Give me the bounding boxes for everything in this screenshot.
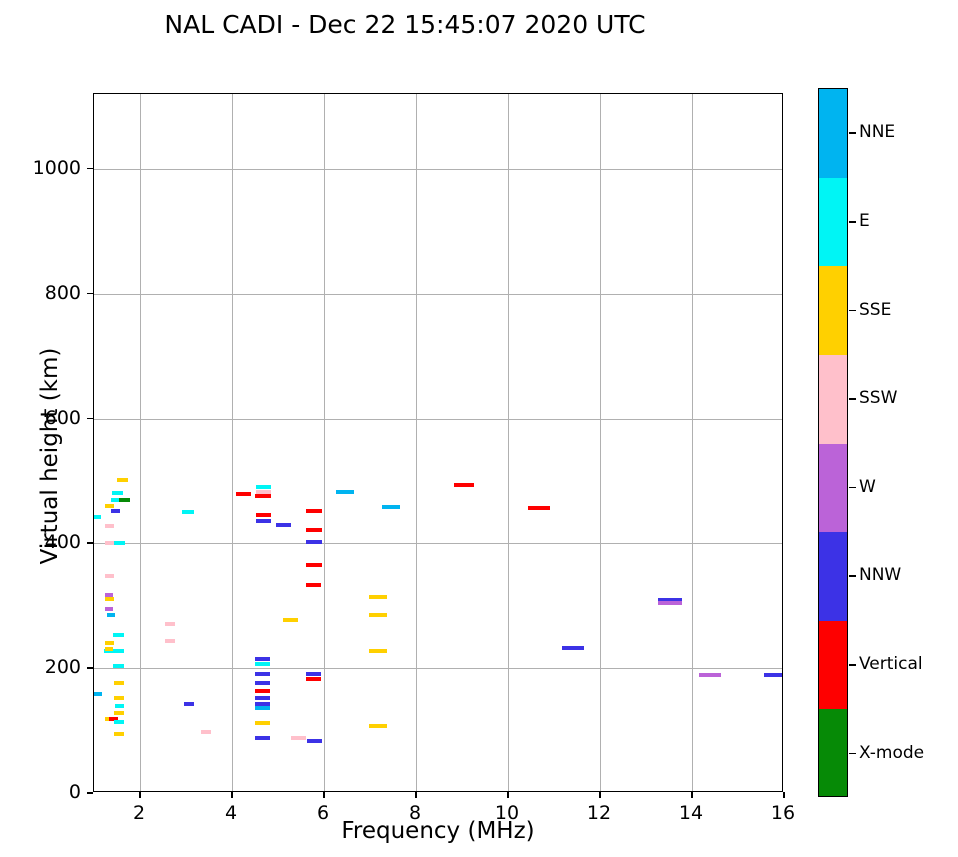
echo-mark [255,662,270,666]
echo-mark [105,597,114,601]
echo-mark [165,622,175,626]
ionogram-figure: NAL CADI - Dec 22 15:45:07 2020 UTC 2468… [0,0,958,857]
echo-mark [336,490,354,494]
echo-mark [236,492,251,496]
echo-mark [256,513,271,517]
echo-mark [184,702,194,706]
echo-mark [306,672,321,676]
echo-mark [369,613,387,617]
echo-mark [454,483,474,487]
x-tick-mark [599,792,601,798]
colorbar-tick-mark [849,753,856,755]
echo-mark [528,506,550,510]
colorbar [818,88,848,797]
echo-mark [699,673,721,677]
gridline-vertical [692,94,693,791]
x-tick-mark [507,792,509,798]
y-tick-mark [87,667,93,669]
colorbar-label-sse: SSE [859,300,891,320]
y-tick-mark [87,792,93,794]
y-tick-label: 0 [3,781,81,803]
echo-mark [165,639,175,643]
echo-mark [307,739,322,743]
echo-mark [105,541,114,545]
gridline-vertical [508,94,509,791]
echo-mark [105,641,114,645]
echo-mark [255,689,270,693]
echo-mark [306,583,321,587]
gridline-horizontal [94,668,782,669]
colorbar-tick-mark [849,664,856,666]
gridline-horizontal [94,294,782,295]
gridline-vertical [140,94,141,791]
gridline-vertical [324,94,325,791]
echo-mark [105,647,113,651]
echo-mark [114,720,124,724]
colorbar-label-w: W [859,477,876,497]
echo-mark [113,633,124,637]
echo-mark [306,677,321,681]
gridline-vertical [416,94,417,791]
echo-mark [306,528,322,532]
colorbar-tick-mark [849,398,856,400]
colorbar-segment [819,89,847,178]
echo-mark [105,504,114,508]
x-tick-mark [139,792,141,798]
gridline-vertical [232,94,233,791]
echo-mark [562,646,584,650]
echo-mark [105,574,114,578]
y-tick-mark [87,168,93,170]
echo-mark [255,672,270,676]
echo-mark [764,673,783,677]
colorbar-tick-mark [849,575,856,577]
colorbar-label-vertical: Vertical [859,654,923,674]
page-title: NAL CADI - Dec 22 15:45:07 2020 UTC [0,10,810,39]
y-tick-label: 200 [3,656,81,678]
echo-mark [382,505,400,509]
echo-mark [93,515,101,519]
echo-mark [255,657,270,661]
echo-mark [255,721,270,725]
echo-mark [256,519,271,523]
echo-mark [306,540,322,544]
x-tick-mark [231,792,233,798]
colorbar-segment [819,709,847,797]
echo-mark [111,509,120,513]
echo-mark [114,732,124,736]
y-axis-title: Virtual height (km) [37,306,63,606]
x-tick-mark [691,792,693,798]
colorbar-label-nne: NNE [859,122,895,142]
echo-mark [255,706,270,710]
colorbar-tick-mark [849,310,856,312]
echo-mark [255,681,270,685]
colorbar-segment [819,621,847,710]
gridline-horizontal [94,419,782,420]
y-tick-mark [87,418,93,420]
echo-mark [658,601,682,605]
colorbar-label-ssw: SSW [859,388,897,408]
x-tick-mark [415,792,417,798]
colorbar-segment [819,532,847,621]
echo-mark [255,696,270,700]
gridline-horizontal [94,169,782,170]
echo-mark [115,704,124,708]
y-tick-label: 1000 [3,157,81,179]
plot-area [93,93,783,792]
colorbar-segment [819,178,847,267]
echo-mark [182,510,194,514]
echo-mark [119,498,130,502]
echo-mark [306,563,322,567]
echo-mark [291,736,306,740]
y-tick-mark [87,542,93,544]
colorbar-segment [819,444,847,533]
echo-mark [255,736,270,740]
y-tick-mark [87,293,93,295]
colorbar-tick-mark [849,487,856,489]
x-tick-mark [783,792,785,798]
echo-mark [105,524,114,528]
colorbar-segment [819,266,847,355]
y-tick-label: 800 [3,282,81,304]
colorbar-label-nnw: NNW [859,565,901,585]
echo-mark [306,509,322,513]
x-axis-title: Frequency (MHz) [93,818,783,844]
echo-mark [369,649,387,653]
echo-mark [113,649,124,653]
echo-mark [114,711,124,715]
echo-mark [114,696,124,700]
echo-mark [276,523,291,527]
echo-mark [369,724,387,728]
echo-mark [105,607,113,611]
echo-mark [369,595,387,599]
echo-mark [113,664,124,668]
colorbar-label-x-mode: X-mode [859,743,924,763]
colorbar-segment [819,355,847,444]
colorbar-label-e: E [859,211,870,231]
echo-mark [94,692,102,696]
echo-mark [112,491,123,495]
x-tick-mark [323,792,325,798]
echo-mark [255,494,271,498]
gridline-horizontal [94,543,782,544]
echo-mark [107,613,115,617]
echo-mark [283,618,298,622]
colorbar-tick-mark [849,221,856,223]
gridline-vertical [600,94,601,791]
echo-mark [201,730,211,734]
colorbar-tick-mark [849,132,856,134]
echo-mark [114,541,125,545]
echo-mark [114,681,124,685]
echo-mark [117,478,128,482]
